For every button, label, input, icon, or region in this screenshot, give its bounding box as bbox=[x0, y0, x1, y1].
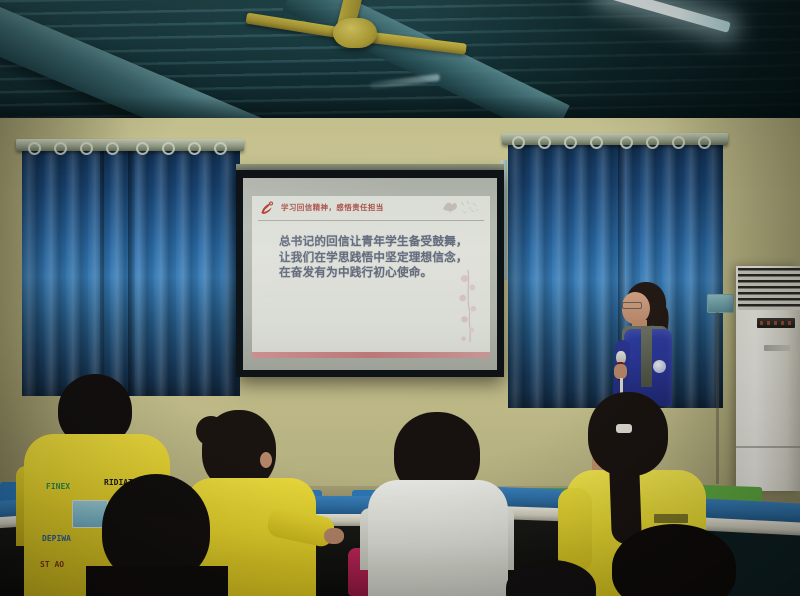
student-ear bbox=[260, 452, 272, 468]
student-head bbox=[612, 524, 736, 596]
ceiling-fan bbox=[245, 0, 465, 72]
wall-switch-plate[interactable] bbox=[707, 294, 734, 313]
presenter bbox=[608, 282, 682, 406]
curtain-left-fold bbox=[100, 146, 104, 396]
air-conditioner-brand-logo bbox=[764, 345, 790, 351]
curtain-ring bbox=[136, 142, 149, 155]
hair-tie-icon bbox=[616, 424, 632, 433]
air-conditioner-pipe bbox=[716, 312, 719, 484]
student-shirt-print bbox=[654, 514, 688, 523]
curtain-left-center-seam bbox=[128, 146, 135, 396]
shirt-print-text: DEPIWA bbox=[42, 534, 71, 543]
student-dark-head-bottom-right bbox=[600, 524, 752, 596]
curtain-ring bbox=[106, 142, 119, 155]
student-hand bbox=[324, 528, 344, 544]
vest-badge-icon bbox=[653, 360, 666, 373]
presenter-hand bbox=[614, 364, 627, 379]
curtain-ring bbox=[590, 136, 603, 149]
curtain-ring bbox=[80, 142, 93, 155]
curtain-ring bbox=[188, 142, 201, 155]
student-white-shirt bbox=[368, 480, 508, 596]
air-conditioner-seam bbox=[736, 446, 800, 448]
curtain-ring bbox=[54, 142, 67, 155]
student-dark-hair-front-left bbox=[92, 474, 222, 596]
ceiling-fan-hub bbox=[333, 18, 377, 48]
student-head bbox=[506, 560, 596, 596]
air-conditioner-display-readout bbox=[760, 321, 792, 325]
curtain-ring bbox=[214, 142, 227, 155]
student-white-shirt-center bbox=[368, 412, 508, 596]
glasses-icon bbox=[622, 302, 642, 309]
shirt-print-text: FINEX bbox=[46, 482, 70, 491]
curtain-ring bbox=[646, 136, 659, 149]
classroom-photo-scene: 学习回信精神，感悟责任担当 总书记的回信让青年学生备受鼓舞， 让我们在学思践悟中… bbox=[0, 0, 800, 596]
curtain-rod-right bbox=[502, 133, 728, 145]
curtain-ring bbox=[564, 136, 577, 149]
curtain-ring bbox=[28, 142, 41, 155]
curtain-ring bbox=[620, 136, 633, 149]
curtain-ring bbox=[512, 136, 525, 149]
projection-screen-glare bbox=[243, 178, 497, 370]
shirt-print-text: ST AO bbox=[40, 560, 64, 569]
presenter-vest-opening bbox=[641, 329, 652, 387]
curtain-ring bbox=[538, 136, 551, 149]
air-vent-grille-icon bbox=[738, 268, 800, 310]
curtain-ring bbox=[672, 136, 685, 149]
curtain-rod-left bbox=[16, 139, 244, 151]
student-dark-head-bottom-center bbox=[506, 560, 596, 596]
curtain-ring bbox=[162, 142, 175, 155]
curtain-ring bbox=[698, 136, 711, 149]
student-shoulders bbox=[86, 566, 228, 596]
